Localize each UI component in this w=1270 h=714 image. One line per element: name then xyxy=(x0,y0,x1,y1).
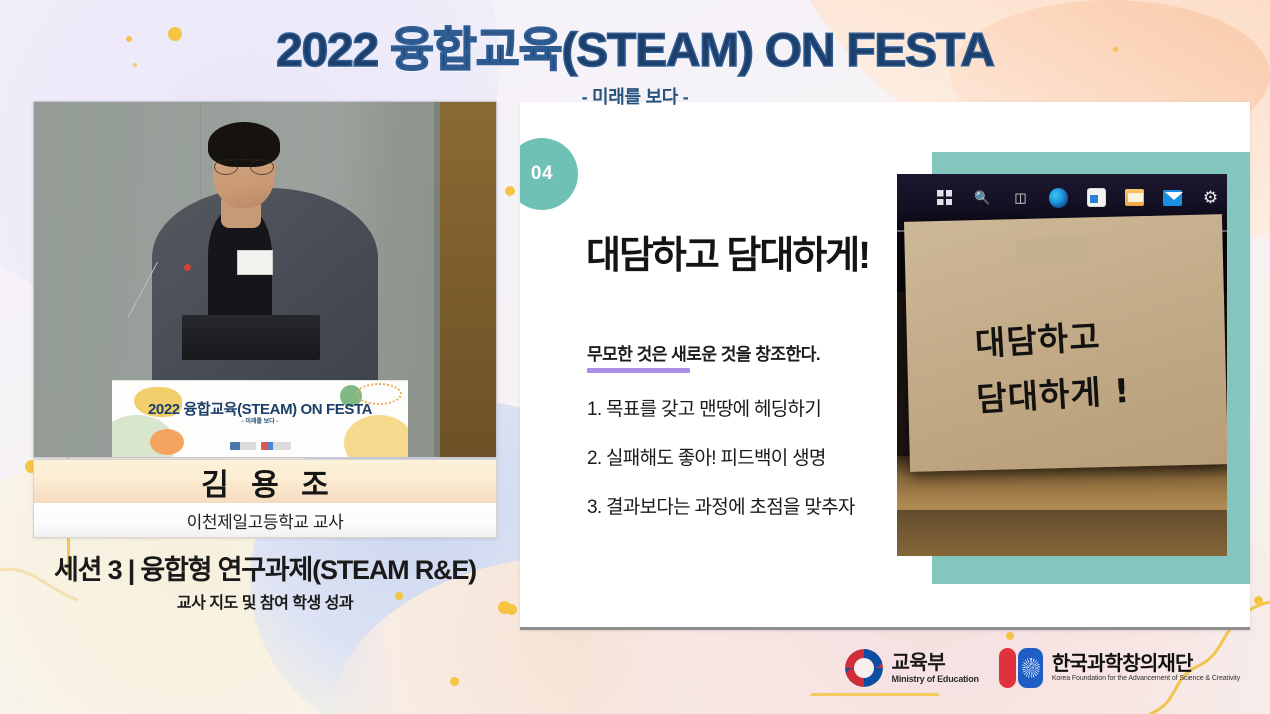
slide-lead-text: 무모한 것은 새로운 것을 창조한다. xyxy=(587,340,820,365)
file-explorer-icon xyxy=(1125,188,1144,207)
photo-tape xyxy=(1016,237,1087,266)
event-subtitle: - 미래를 보다 - xyxy=(0,83,1270,109)
photo-windows-taskbar: 🔍 ◫ ⚙ ⟲ xyxy=(935,188,1227,207)
session-label: 세션 3 | 융합형 연구과제(STEAM R&E) 교사 지도 및 참여 학생… xyxy=(33,548,497,613)
speaker-nameplate: 김 용 조 이천제일고등학교 교사 xyxy=(33,459,497,538)
podium-banner-logos xyxy=(112,442,408,450)
moe-logo-small-icon xyxy=(230,442,256,450)
speaker-name-row: 김 용 조 xyxy=(34,460,496,503)
slide-title: 대담하고 담대하게! xyxy=(586,224,869,279)
speaker-name: 김 용 조 xyxy=(194,460,335,504)
kofac-name: 한국과학창의재단 xyxy=(1052,654,1240,675)
podium-banner: 2022 융합교육(STEAM) ON FESTA - 미래를 보다 - xyxy=(112,380,408,457)
slide-section-badge: 04 xyxy=(520,138,578,210)
slide-numbered-list: 1. 목표를 갖고 맨땅에 헤딩하기 2. 실패해도 좋아! 피드백이 생명 3… xyxy=(587,394,855,541)
search-icon: 🔍 xyxy=(973,188,992,207)
event-header: 2022 융합교육(STEAM) ON FESTA - 미래를 보다 - xyxy=(0,0,1270,109)
decorative-dot xyxy=(450,677,459,686)
speaker-affiliation-row: 이천제일고등학교 교사 xyxy=(34,503,496,538)
slide-underline-accent xyxy=(587,368,690,373)
taeguk-icon xyxy=(845,649,883,687)
list-item: 1. 목표를 갖고 맨땅에 헤딩하기 xyxy=(587,394,855,421)
kofac-logo: 한국과학창의재단 Korea Foundation for the Advanc… xyxy=(999,648,1240,688)
ministry-of-education-logo: 교육부 Ministry of Education xyxy=(845,649,979,687)
moe-name: 교육부 xyxy=(892,653,979,674)
session-subtitle: 교사 지도 및 참여 학생 성과 xyxy=(33,589,497,613)
speaker-affiliation: 이천제일고등학교 교사 xyxy=(187,508,344,533)
footer-logos: 교육부 Ministry of Education 한국과학창의재단 Korea… xyxy=(845,648,1240,688)
speaker-video[interactable]: 2022 융합교육(STEAM) ON FESTA - 미래를 보다 - xyxy=(33,101,497,458)
kofac-name-en: Korea Foundation for the Advancement of … xyxy=(1052,675,1240,682)
podium-banner-subtitle: - 미래를 보다 - xyxy=(112,416,408,425)
kofac-logo-small-icon xyxy=(261,442,291,450)
podium-laptop xyxy=(182,315,320,360)
task-view-icon: ◫ xyxy=(1011,188,1030,207)
kofac-mark-icon xyxy=(999,648,1043,688)
photo-handwriting-line-2: 담대하게 ! xyxy=(975,364,1132,421)
slide-photo: 🔍 ◫ ⚙ ⟲ 대담하고 담대하게 ! xyxy=(897,174,1227,556)
session-title: 세션 3 | 융합형 연구과제(STEAM R&E) xyxy=(33,548,497,587)
store-icon xyxy=(1087,188,1106,207)
presentation-slide[interactable]: 04 대담하고 담대하게! 무모한 것은 새로운 것을 창조한다. 1. 목표를… xyxy=(520,102,1250,630)
decorative-dot xyxy=(1006,632,1014,640)
moe-name-en: Ministry of Education xyxy=(892,674,979,684)
speaker-glasses xyxy=(214,159,274,172)
list-item: 3. 결과보다는 과정에 초점을 맞추자 xyxy=(587,492,855,519)
mail-icon xyxy=(1163,188,1182,207)
microphone-tip xyxy=(184,264,191,271)
settings-icon: ⚙ xyxy=(1201,188,1220,207)
windows-start-icon xyxy=(935,188,954,207)
list-item: 2. 실패해도 좋아! 피드백이 생명 xyxy=(587,443,855,470)
speaker-name-tag xyxy=(237,250,273,275)
photo-handwriting-line-1: 대담하고 xyxy=(974,310,1102,365)
video-wood-panel xyxy=(440,102,496,457)
event-title: 2022 융합교육(STEAM) ON FESTA xyxy=(0,11,1270,80)
decorative-dot xyxy=(505,186,515,196)
decorative-dot xyxy=(498,601,511,614)
edge-icon xyxy=(1049,188,1068,207)
photo-paper-sign: 대담하고 담대하게 ! xyxy=(904,214,1227,472)
photo-wooden-floor xyxy=(897,456,1227,556)
